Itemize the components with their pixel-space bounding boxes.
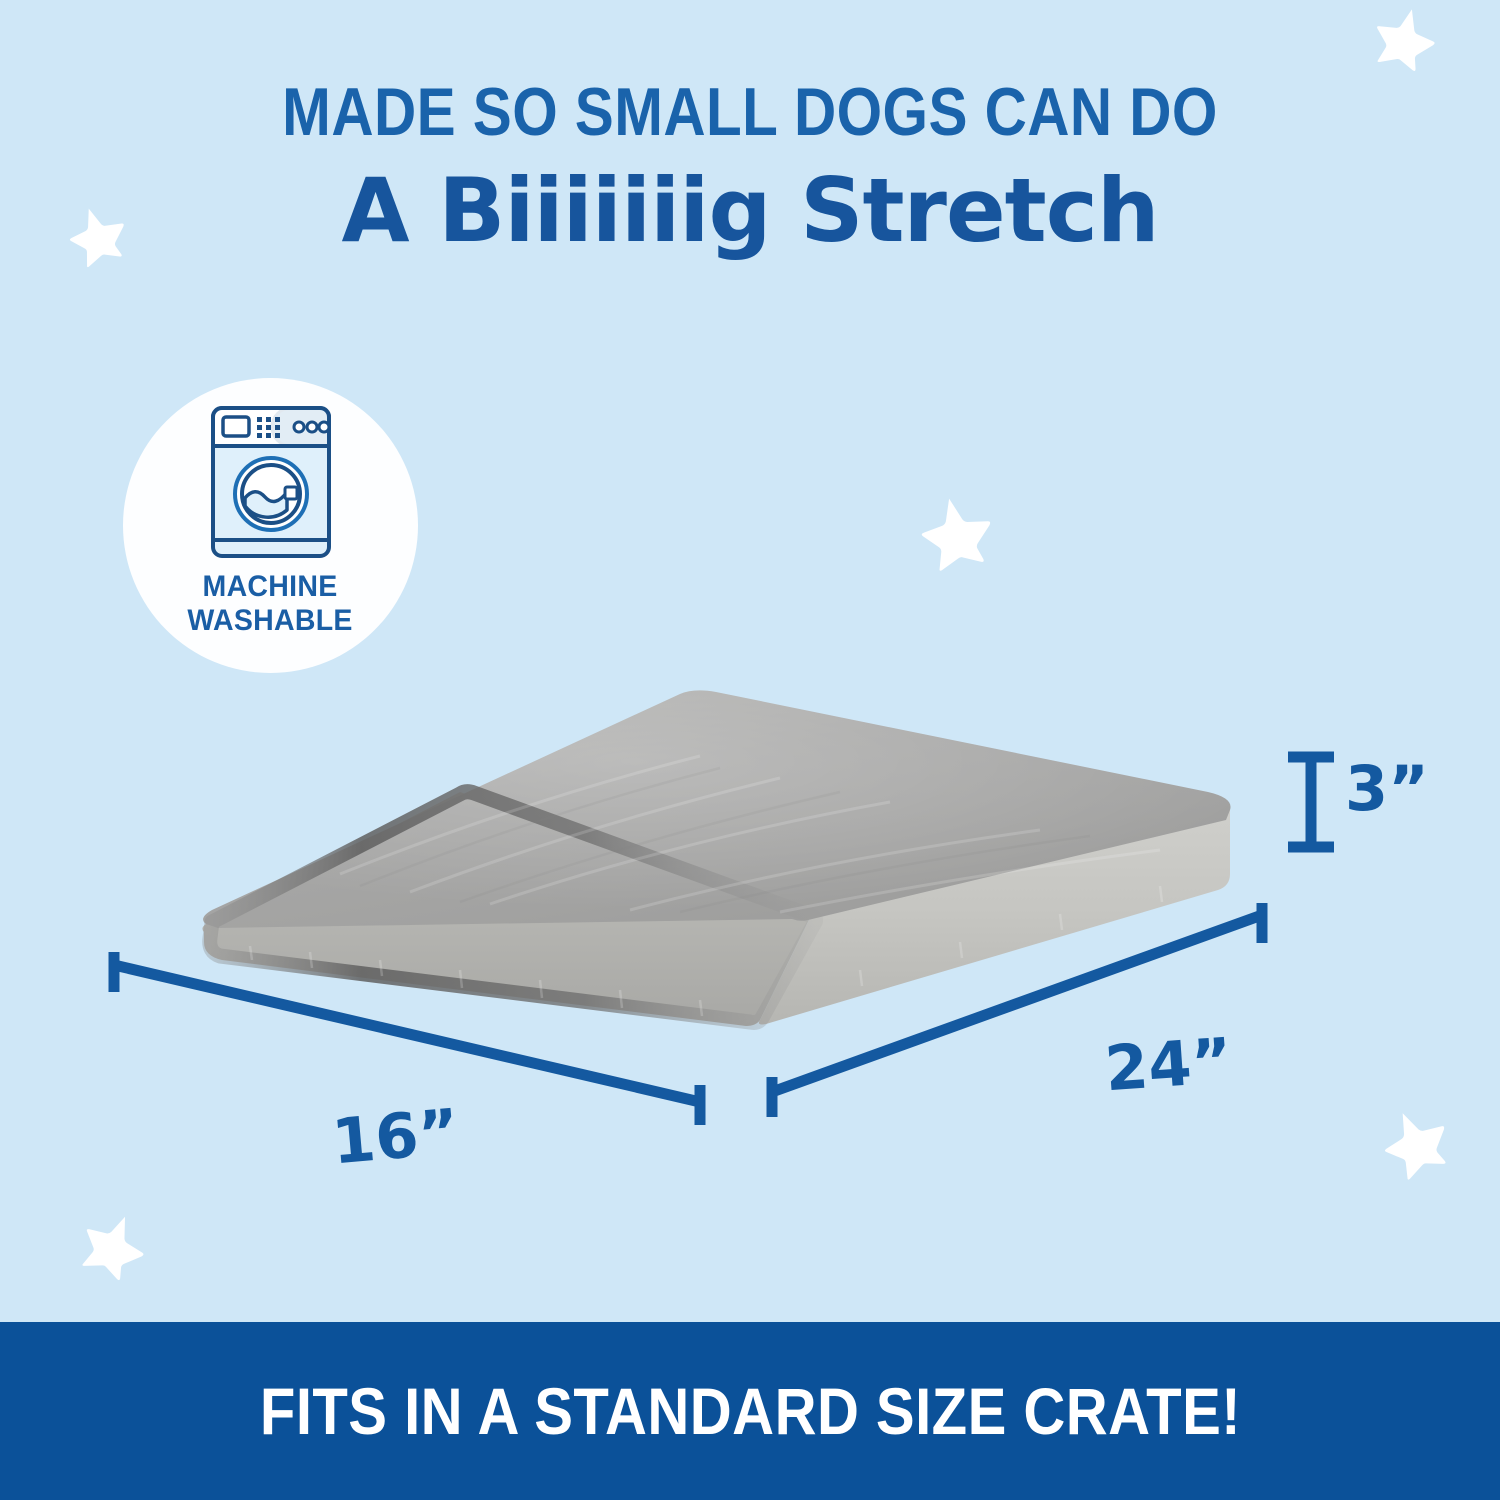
star-icon-top-right (1367, 0, 1442, 75)
infographic-canvas: MADE SO SMALL DOGS CAN DO A Biiiiiiig St… (0, 0, 1500, 1500)
badge-label-line-2: WASHABLE (188, 604, 353, 638)
bottom-banner: FITS IN A STANDARD SIZE CRATE! (0, 1322, 1500, 1500)
badge-label: MACHINE WASHABLE (188, 570, 353, 637)
dimension-label-length: 24” (1103, 1024, 1235, 1106)
headline-line-2: A Biiiiiiig Stretch (0, 159, 1500, 263)
dimension-label-width: 16” (329, 1095, 462, 1179)
badge-label-line-1: MACHINE (188, 570, 353, 604)
star-icon-bottom-right (1371, 1097, 1458, 1184)
machine-washable-badge: MACHINE WASHABLE (123, 378, 418, 673)
dimension-label-height: 3” (1345, 752, 1429, 825)
washing-machine-icon (207, 402, 335, 562)
star-icon-center (913, 488, 998, 573)
headline-block: MADE SO SMALL DOGS CAN DO A Biiiiiiig St… (0, 78, 1500, 263)
banner-text: FITS IN A STANDARD SIZE CRATE! (259, 1373, 1240, 1449)
star-icon-bottom-left (72, 1202, 155, 1285)
headline-line-1: MADE SO SMALL DOGS CAN DO (105, 78, 1395, 147)
